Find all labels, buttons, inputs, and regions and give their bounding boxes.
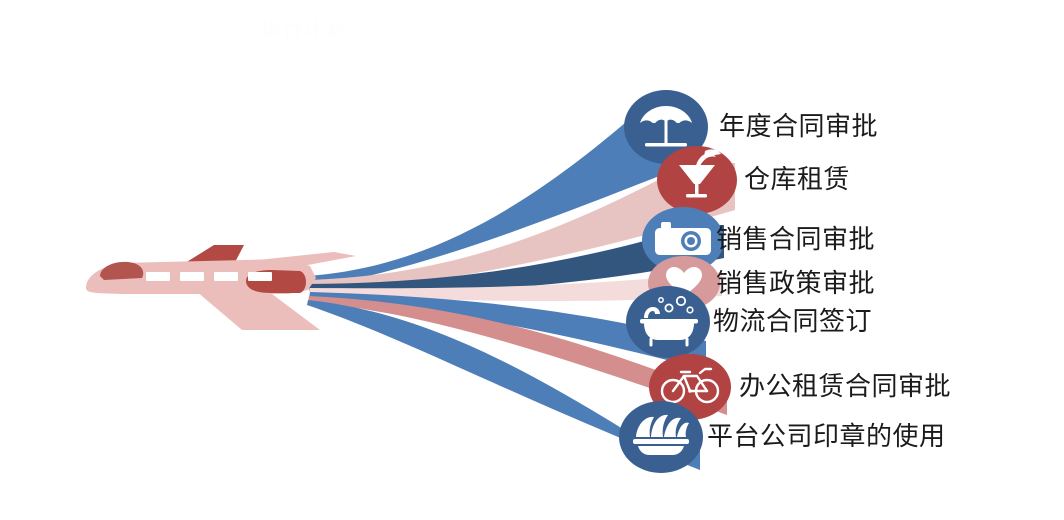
plane-window xyxy=(146,272,170,281)
item-label-1: 年度合同审批 xyxy=(719,114,878,140)
plane-window xyxy=(180,272,204,281)
infographic-canvas: 出行计划 xyxy=(0,0,1064,520)
icon-bubble-7[interactable] xyxy=(619,401,703,473)
item-label-6: 办公租赁合同审批 xyxy=(739,374,951,400)
icon-bubble-5[interactable] xyxy=(626,286,710,358)
plane-lower-wing xyxy=(196,291,320,330)
plane-nose-cap xyxy=(100,262,143,280)
item-label-3: 销售合同审批 xyxy=(716,227,875,253)
item-label-2: 仓库租赁 xyxy=(744,167,850,193)
plane-window xyxy=(248,272,272,281)
item-label-7: 平台公司印章的使用 xyxy=(707,424,946,450)
item-label-4: 销售政策审批 xyxy=(716,271,875,297)
icon-bubble-2[interactable] xyxy=(657,146,737,214)
plane-window xyxy=(214,272,238,281)
item-label-5: 物流合同签订 xyxy=(713,309,872,335)
